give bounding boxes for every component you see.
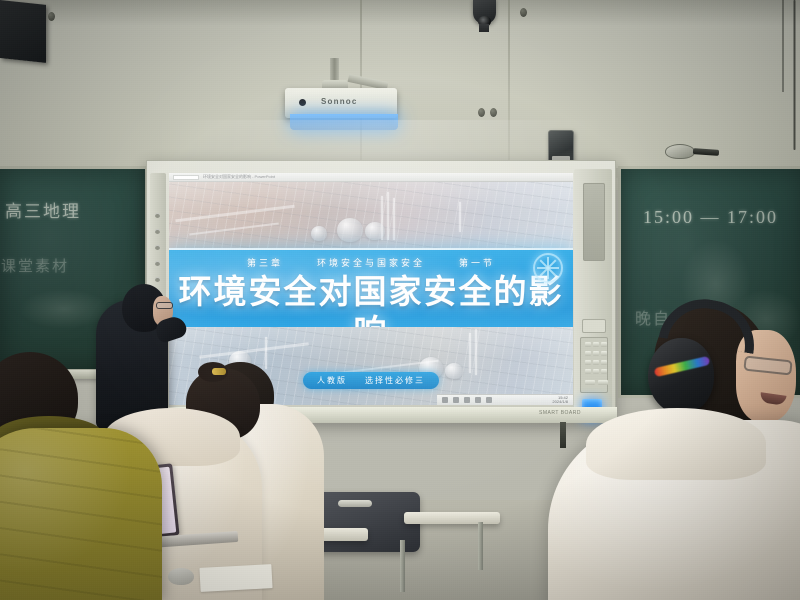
slide-window-titlebar: 环境安全对国家安全的影响 - PowerPoint: [169, 173, 573, 182]
taskbar-clock[interactable]: 15:42 2024/1/8: [552, 396, 568, 405]
ceiling-shadow: [0, 0, 800, 26]
taskbar-app-icon[interactable]: [464, 397, 470, 403]
slide-unit: 环境安全与国家安全: [317, 256, 425, 269]
ceiling-speaker-icon: [0, 0, 46, 63]
whiteboard-button[interactable]: [155, 229, 160, 234]
slide-textbook: 选择性必修三: [365, 375, 425, 386]
blackboard-right-line1: 15:00 — 17:00: [643, 207, 778, 228]
wall-seam: [508, 0, 510, 175]
taskbar-app-icon[interactable]: [486, 397, 492, 403]
wall-screw: [490, 108, 497, 117]
blackboard-left-line2: 课堂素材: [1, 255, 69, 276]
titlebar-field: [173, 175, 199, 180]
computer-mouse[interactable]: [168, 568, 194, 585]
projector-brand-label: Sonnoc: [321, 97, 358, 106]
chair-leg: [400, 540, 405, 592]
wall-screw: [48, 12, 55, 21]
taskbar-app-icon[interactable]: [475, 397, 481, 403]
desk-surface: [404, 512, 500, 524]
taskbar-search-icon[interactable]: [453, 397, 459, 403]
slide-edition-badge: 人教版 选择性必修三: [303, 372, 439, 389]
wall-cable: [793, 0, 796, 150]
slide-subtitle-row: 第三章 环境安全与国家安全 第一节: [169, 256, 573, 269]
slide-taskbar[interactable]: 15:42 2024/1/8: [437, 394, 573, 405]
side-control-panel[interactable]: [574, 169, 612, 413]
slide-chapter: 第三章: [247, 256, 283, 269]
whiteboard-stand-leg: [560, 422, 566, 448]
wall-screw: [520, 8, 527, 17]
camera-mount: [479, 24, 489, 32]
paper-sheet: [199, 564, 272, 592]
whiteboard-button[interactable]: [155, 245, 160, 250]
slide-photo-top: [169, 182, 573, 250]
taskbar-date: 2024/1/8: [552, 400, 568, 404]
whiteboard-button[interactable]: [155, 261, 160, 266]
panel-display: [582, 319, 606, 333]
blackboard-left-line1: 高三地理: [5, 197, 81, 222]
wall-cable: [782, 0, 784, 92]
wall-screw: [478, 108, 485, 117]
chair-handle: [338, 500, 372, 507]
projector-indicator-icon: [299, 99, 306, 106]
classroom-scene: 高三地理 课堂素材 15:00 — 17:00 晚自习 Sonnoc: [0, 0, 800, 600]
glasses-icon: [156, 302, 173, 309]
panel-vent: [583, 183, 605, 261]
slide-window-title: 环境安全对国家安全的影响 - PowerPoint: [203, 174, 275, 180]
chair-leg: [478, 522, 483, 570]
wall-mounted-device: [665, 144, 717, 160]
slide-edition: 人教版: [317, 375, 347, 386]
whiteboard-button[interactable]: [155, 213, 160, 218]
slide-title-banner: 第三章 环境安全与国家安全 第一节 环境安全对国家安全的影响: [169, 248, 573, 330]
whiteboard-button[interactable]: [155, 277, 160, 282]
slide-section: 第一节: [459, 256, 495, 269]
taskbar-start-icon[interactable]: [442, 397, 448, 403]
projector-lens-glow: [290, 114, 398, 130]
panel-keypad[interactable]: [580, 337, 608, 393]
hair-clip: [212, 368, 226, 375]
whiteboard-brand-label: SMART BOARD: [539, 410, 581, 416]
slide-watermark-icon: [533, 253, 563, 283]
